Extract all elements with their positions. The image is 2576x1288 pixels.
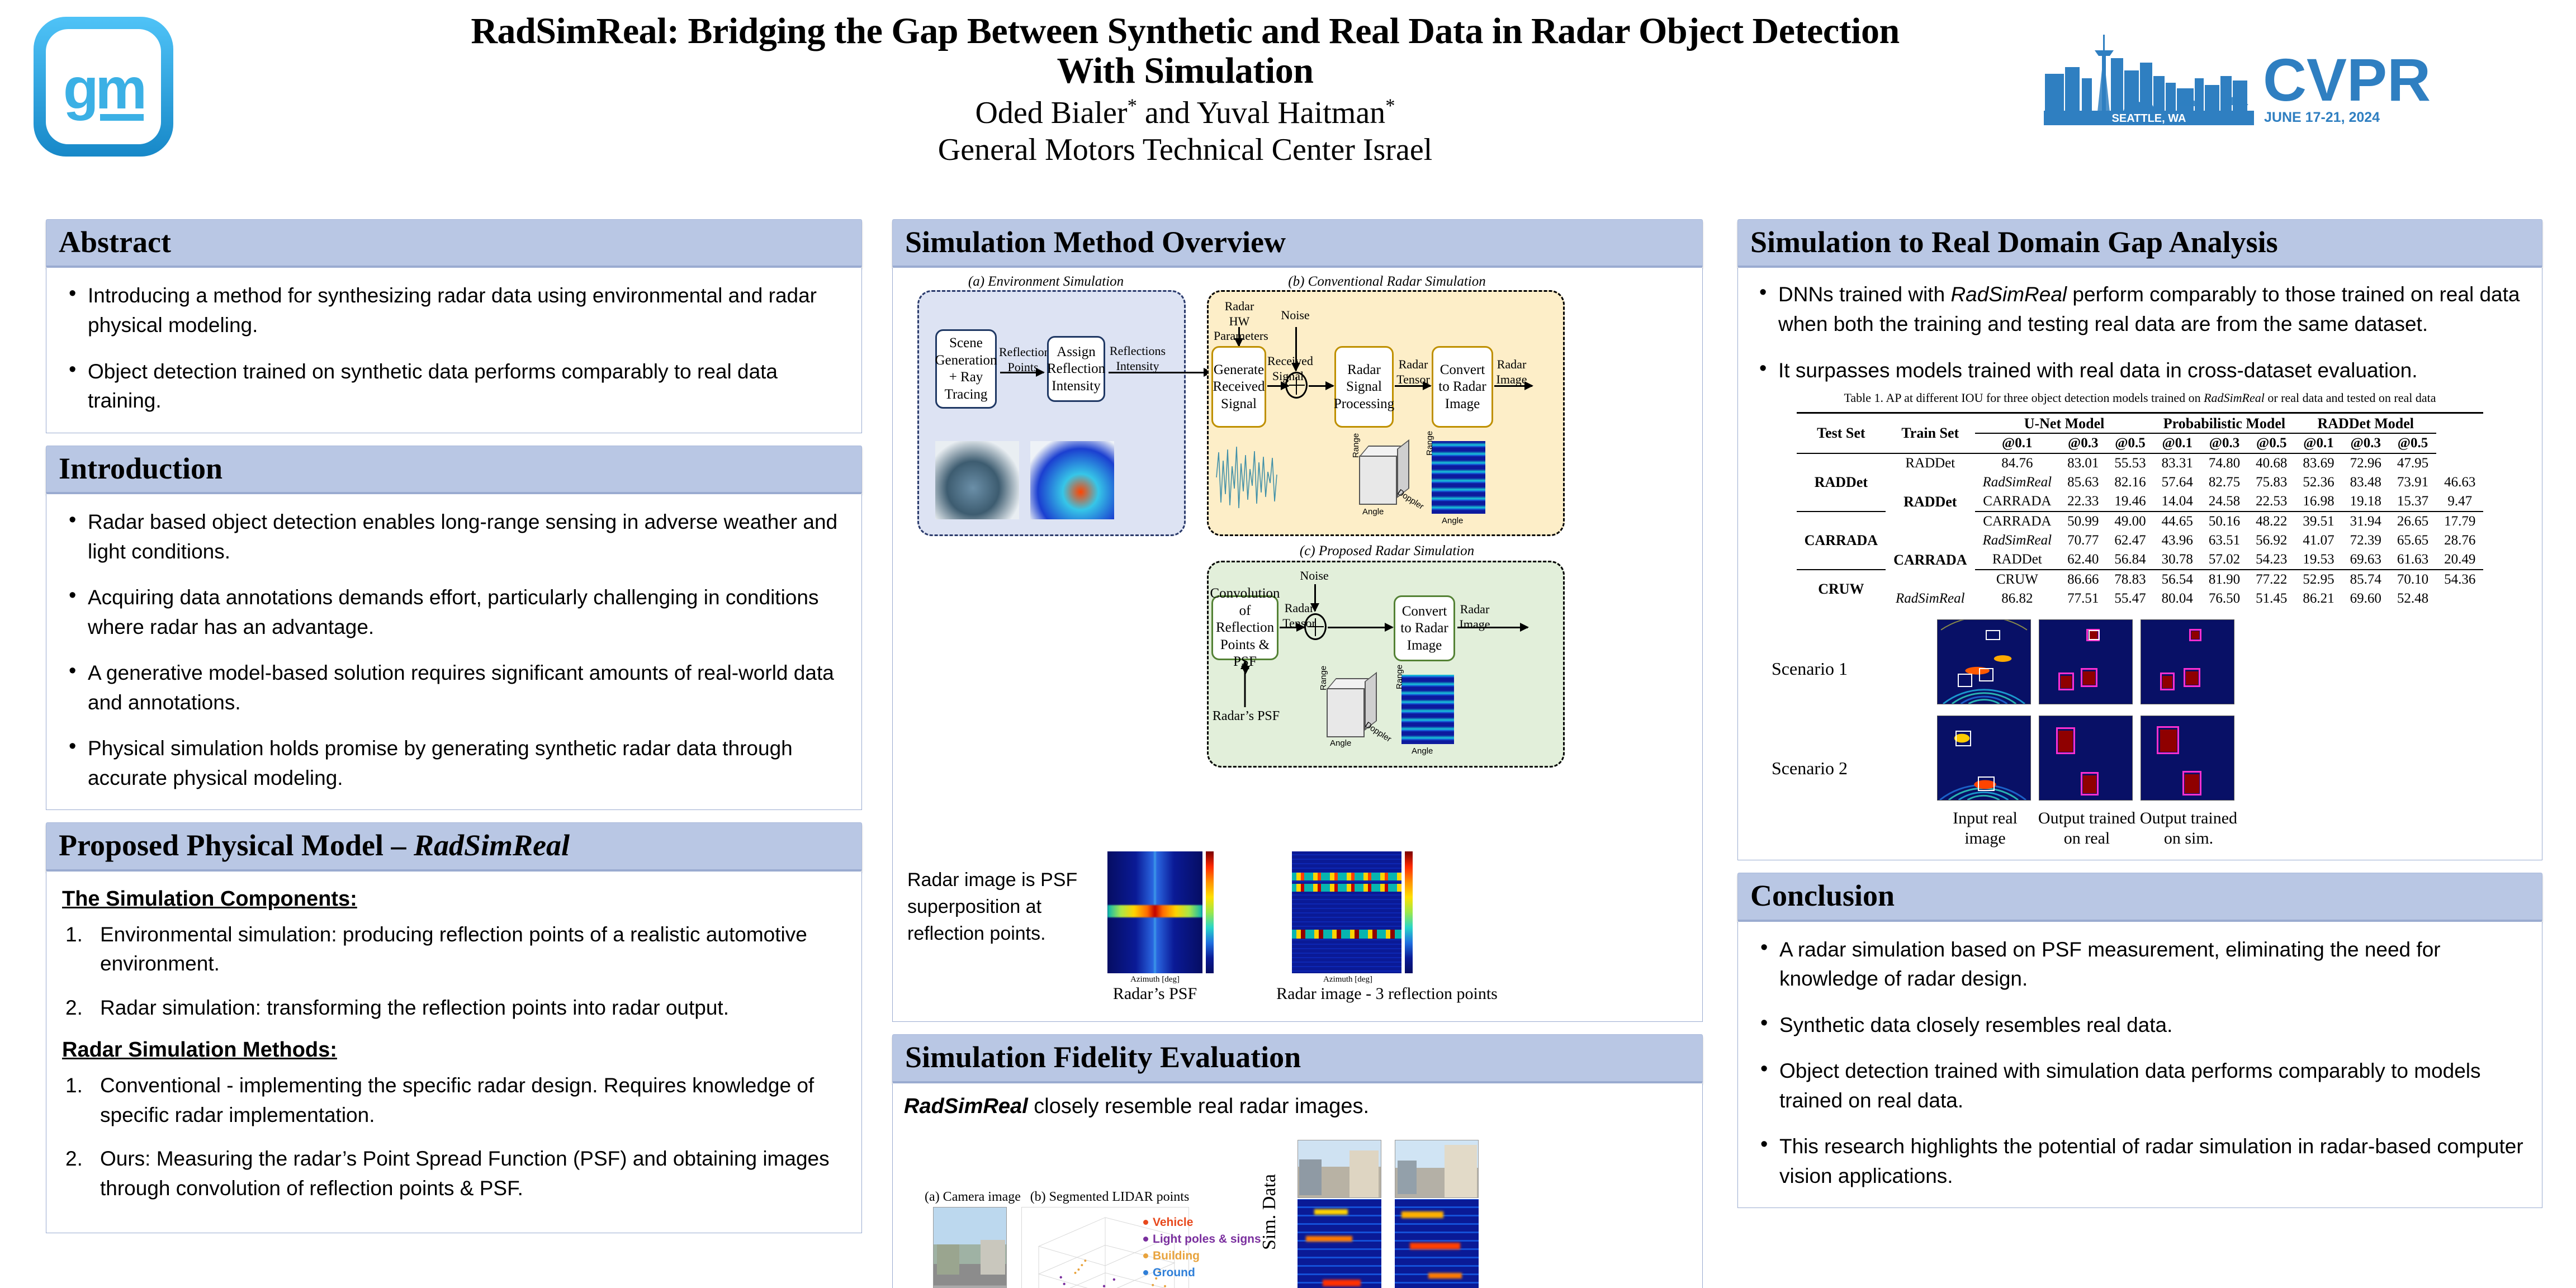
gt-bbox	[2089, 630, 2100, 640]
edge-label-noise-c: Noise	[1295, 569, 1333, 583]
conclusion-bullet-list: A radar simulation based on PSF measurem…	[1754, 935, 2526, 1191]
list-item: Radar based object detection enables lon…	[62, 508, 846, 566]
test-set-cell: CARRADA	[1797, 512, 1886, 570]
sim-camera-image-1	[1298, 1140, 1381, 1198]
ap-value-cell: 17.79	[2436, 512, 2483, 531]
ap-value-cell: 62.47	[2106, 531, 2153, 550]
panel-introduction-body: Radar based object detection enables lon…	[46, 494, 862, 810]
ap-value-cell: 83.69	[2295, 453, 2342, 473]
ap-value-cell: 49.00	[2106, 512, 2153, 531]
sim-camera-image-2	[1395, 1140, 1479, 1198]
radar-image-heatmap-b	[1432, 441, 1485, 514]
psf-colorbar	[1206, 851, 1214, 973]
iou-header: @0.1	[1975, 433, 2060, 453]
ap-value-cell: 51.45	[2248, 589, 2295, 608]
iou-header: @0.1	[2154, 433, 2201, 453]
gt-bbox	[1978, 776, 1995, 791]
panel-introduction: Introduction Radar based object detectio…	[46, 446, 862, 811]
train-set-cell: CRUW	[1975, 570, 2060, 589]
arrow-convert-out-b	[1494, 385, 1532, 387]
list-item-text: Radar simulation: transforming the refle…	[100, 996, 729, 1019]
ap-value-cell: 52.48	[2389, 589, 2436, 608]
ap-value-cell: 86.82	[1975, 589, 2060, 608]
ap-value-cell: 86.21	[2295, 589, 2342, 608]
ap-value-cell: 83.31	[2154, 453, 2201, 473]
ap-value-cell: 77.22	[2248, 570, 2295, 589]
panel-method-overview-title: Simulation Method Overview	[905, 225, 1690, 259]
edge-label-noise-b: Noise	[1276, 308, 1314, 323]
panel-proposed-model-header: Proposed Physical Model – RadSimReal	[46, 822, 862, 871]
ap-value-cell: 31.94	[2342, 512, 2389, 531]
left-column: Abstract Introducing a method for synthe…	[46, 219, 862, 1246]
cvpr-city-text: SEATTLE, WA	[2112, 112, 2186, 125]
pred-bbox	[2081, 668, 2097, 687]
list-item: A generative model-based solution requir…	[62, 659, 846, 717]
ap-value-cell: 54.23	[2248, 550, 2295, 570]
ap-value-cell: 50.16	[2201, 512, 2248, 531]
legend-label: Ground	[1153, 1266, 1195, 1280]
scenario1-input-real-image	[1937, 619, 2031, 704]
diagram-panel-b-title: (b) Conventional Radar Simulation	[1214, 273, 1560, 290]
iou-header: @0.5	[2248, 433, 2295, 453]
cube-axis-angle-c: Angle	[1330, 738, 1351, 748]
gm-logo: gm	[34, 17, 173, 157]
panel-fidelity-title: Simulation Fidelity Evaluation	[905, 1040, 1690, 1074]
legend-label: Building	[1153, 1249, 1200, 1263]
list-item: 2.Radar simulation: transforming the ref…	[62, 993, 846, 1023]
author-2-asterisk: *	[1385, 94, 1395, 116]
ap-value-cell: 73.91	[2389, 473, 2436, 492]
heatmap-axis-range-c: Range	[1395, 665, 1404, 689]
proposed-title-prefix: Proposed Physical Model –	[59, 828, 414, 862]
ap-value-cell: 26.65	[2389, 512, 2436, 531]
ap-value-cell: 57.02	[2201, 550, 2248, 570]
legend-label: Light poles & signs	[1153, 1233, 1261, 1246]
subhead-simulation-components: The Simulation Components:	[62, 887, 846, 911]
fidelity-lead-rest: closely resemble real radar images.	[1028, 1095, 1369, 1118]
scenario1-output-trained-sim	[2141, 619, 2234, 704]
list-item: 1.Environmental simulation: producing re…	[62, 920, 846, 979]
panel-proposed-model-body: The Simulation Components: 1.Environment…	[46, 872, 862, 1233]
ap-value-cell: 63.51	[2201, 531, 2248, 550]
arrow-sum-to-rsp	[1309, 385, 1333, 387]
node-radar-signal-processing: Radar Signal Processing	[1334, 346, 1394, 428]
camera-image-a	[933, 1207, 1007, 1288]
ap-results-table: Test Set Train Set U-Net Model Probabili…	[1797, 412, 2484, 608]
ap-value-cell: 22.53	[2248, 492, 2295, 512]
scenario2-output-trained-real	[2039, 716, 2133, 801]
heatmap-axis-angle-c: Angle	[1412, 746, 1433, 756]
panel-introduction-header: Introduction	[46, 446, 862, 494]
list-item-number: 1.	[65, 1071, 97, 1101]
radar-image-3pts-x-axis-label: Azimuth [deg]	[1303, 974, 1393, 984]
panel-abstract-title: Abstract	[59, 225, 849, 259]
panel-introduction-title: Introduction	[59, 452, 849, 485]
gt-bbox	[1979, 668, 1993, 681]
affiliation: General Motors Technical Center Israel	[347, 131, 2024, 168]
ap-value-cell: 47.95	[2389, 453, 2436, 473]
ap-value-cell: 28.76	[2436, 531, 2483, 550]
cvpr-logo: SEATTLE, WA CVPR JUNE 17-21, 2024	[2039, 22, 2542, 129]
list-item: DNNs trained with RadSimReal perform com…	[1753, 280, 2527, 339]
table-row: RADDetRADDet84.7683.0155.5383.3174.8040.…	[1797, 453, 2484, 473]
iou-header: @0.3	[2059, 433, 2106, 453]
list-item-number: 2.	[65, 993, 97, 1023]
panel-abstract: Abstract Introducing a method for synthe…	[46, 219, 862, 433]
list-item: Acquiring data annotations demands effor…	[62, 583, 846, 642]
ap-value-cell: 85.63	[2059, 473, 2106, 492]
ap-value-cell: 14.04	[2154, 492, 2201, 512]
scenario-label-1: Scenario 1	[1772, 659, 1848, 679]
panel-method-overview: Simulation Method Overview (a) Environme…	[892, 219, 1703, 1022]
poster-root: gm RadSimReal: Bridging the Gap Between …	[0, 0, 2576, 1288]
psf-superposition-note: Radar image is PSF superposition at refl…	[907, 867, 1092, 947]
ap-value-cell: 9.47	[2436, 492, 2483, 512]
fidelity-caption-a: (a) Camera image	[914, 1189, 1031, 1205]
table-body: RADDetRADDet84.7683.0155.5383.3174.8040.…	[1797, 453, 2484, 608]
panel-conclusion-title: Conclusion	[1750, 879, 2530, 912]
panel-domain-gap: Simulation to Real Domain Gap Analysis D…	[1737, 219, 2542, 860]
panel-domain-gap-header: Simulation to Real Domain Gap Analysis	[1737, 219, 2542, 268]
table-caption: Table 1. AP at different IOU for three o…	[1753, 391, 2527, 405]
ap-value-cell: 86.66	[2059, 570, 2106, 589]
radar-image-3pts-caption: Radar image - 3 reflection points	[1270, 984, 1504, 1003]
gt-bbox	[1986, 630, 2000, 640]
list-item: Object detection trained with simulation…	[1754, 1057, 2526, 1115]
cvpr-dates-text: JUNE 17-21, 2024	[2264, 110, 2380, 125]
panel-proposed-model: Proposed Physical Model – RadSimReal The…	[46, 822, 862, 1233]
cube-axis-angle-b: Angle	[1362, 507, 1384, 517]
list-item: Object detection trained on synthetic da…	[62, 357, 846, 416]
panel-proposed-model-title: Proposed Physical Model – RadSimReal	[59, 828, 849, 862]
test-set-cell: CARRADA	[1886, 531, 1974, 589]
title-block: RadSimReal: Bridging the Gap Between Syn…	[347, 11, 2024, 168]
ap-value-cell: 52.95	[2295, 570, 2342, 589]
ap-value-cell: 70.10	[2389, 570, 2436, 589]
ap-value-cell: 55.47	[2106, 589, 2153, 608]
node-scene-generation: Scene Generation + Ray Tracing	[935, 329, 997, 409]
panel-method-overview-header: Simulation Method Overview	[892, 219, 1703, 268]
ap-value-cell: 69.60	[2342, 589, 2389, 608]
legend-dot-icon	[1143, 1237, 1148, 1242]
ap-value-cell: 20.49	[2436, 550, 2483, 570]
gm-wordmark: gm	[63, 60, 144, 118]
scenario-column-caption-sim: Output trained on sim.	[2138, 808, 2239, 849]
preview-raytracing-pointcloud	[935, 441, 1019, 519]
subhead-radar-simulation-methods: Radar Simulation Methods:	[62, 1038, 846, 1062]
psf-comparison-figure: Radar image is PSF superposition at refl…	[901, 847, 1694, 1015]
scenario2-output-trained-sim	[2141, 716, 2234, 801]
legend-dot-icon	[1143, 1220, 1148, 1225]
cvpr-wordmark-text: CVPR	[2263, 46, 2431, 113]
test-set-cell: CRUW	[1797, 570, 1886, 608]
list-item-text: Conventional - implementing the specific…	[100, 1074, 814, 1126]
fidelity-caption-b: (b) Segmented LIDAR points	[1020, 1189, 1199, 1205]
list-item: 1.Conventional - implementing the specif…	[62, 1071, 846, 1130]
abstract-bullet-list: Introducing a method for synthesizing ra…	[62, 281, 846, 415]
right-column: Simulation to Real Domain Gap Analysis D…	[1737, 219, 2542, 1220]
arrow-hw-into-generate	[1238, 327, 1240, 346]
ap-value-cell: 72.39	[2342, 531, 2389, 550]
group-header-probabilistic: Probabilistic Model	[2154, 413, 2295, 434]
fidelity-figure: (a) Camera image (b) Segmented LIDAR poi…	[903, 1129, 1692, 1288]
arrow-rsp-to-convert	[1395, 385, 1431, 387]
train-set-cell: RadSimReal	[1975, 531, 2060, 550]
pred-bbox	[2157, 726, 2179, 754]
ap-value-cell: 44.65	[2154, 512, 2201, 531]
node-convert-to-radar-image-c: Convert to Radar Image	[1394, 595, 1455, 661]
edge-label-reflections-intensity: Reflections Intensity	[1109, 344, 1167, 373]
heatmap-axis-angle-b: Angle	[1442, 516, 1463, 525]
ap-value-cell: 83.48	[2342, 473, 2389, 492]
ap-value-cell: 40.68	[2248, 453, 2295, 473]
iou-header: @0.1	[2295, 433, 2342, 453]
radar-image-heatmap-c	[1401, 675, 1454, 744]
fidelity-lead-em: RadSimReal	[904, 1095, 1028, 1118]
panel-domain-gap-body: DNNs trained with RadSimReal perform com…	[1737, 268, 2542, 860]
panel-conclusion: Conclusion A radar simulation based on P…	[1737, 873, 2542, 1208]
arrow-sum-to-convert-c	[1328, 627, 1393, 628]
ap-value-cell: 54.36	[2436, 570, 2483, 589]
received-signal-waveform	[1214, 441, 1281, 514]
node-assign-reflection-intensity: Assign Reflection Intensity	[1047, 336, 1105, 402]
sim-radar-heatmap-1	[1298, 1199, 1381, 1288]
panel-method-overview-body: (a) Environment Simulation Scene Generat…	[892, 268, 1703, 1022]
cube-axis-range-c: Range	[1319, 666, 1328, 690]
ap-value-cell: 83.01	[2059, 453, 2106, 473]
ap-value-cell: 19.53	[2295, 550, 2342, 570]
cvpr-logo-svg: SEATTLE, WA CVPR JUNE 17-21, 2024	[2039, 22, 2542, 129]
ap-value-cell: 74.80	[2201, 453, 2248, 473]
table-row: RadSimReal86.8277.5155.4780.0476.5051.45…	[1797, 589, 2484, 608]
arrow-convert-out-c	[1457, 627, 1528, 628]
method-overview-diagram: (a) Environment Simulation Scene Generat…	[901, 273, 1694, 844]
train-set-cell: CARRADA	[1975, 492, 2060, 512]
panel-fidelity-body: RadSimReal closely resemble real radar i…	[892, 1083, 1703, 1288]
list-item: A radar simulation based on PSF measurem…	[1754, 935, 2526, 994]
ap-value-cell: 52.36	[2295, 473, 2342, 492]
train-set-cell: RadSimReal	[1975, 473, 2060, 492]
pred-bbox	[2056, 727, 2075, 754]
ap-value-cell: 15.37	[2389, 492, 2436, 512]
list-item-text: Environmental simulation: producing refl…	[100, 923, 807, 976]
panel-conclusion-body: A radar simulation based on PSF measurem…	[1737, 922, 2542, 1209]
gt-bbox	[1955, 731, 1971, 746]
diagram-panel-a-title: (a) Environment Simulation	[923, 273, 1169, 290]
poster-title-line-2: With Simulation	[347, 51, 2024, 91]
list-item-number: 2.	[65, 1144, 97, 1174]
pred-bbox	[2189, 629, 2201, 641]
train-set-cell: RadSimReal	[1886, 589, 1974, 608]
list-item: Physical simulation holds promise by gen…	[62, 734, 846, 793]
ap-value-cell: 82.16	[2106, 473, 2153, 492]
scenario-label-2: Scenario 2	[1772, 758, 1848, 779]
psf-heatmap-image	[1107, 851, 1202, 973]
author-1: Oded Bialer	[975, 96, 1127, 130]
preview-reflection-intensity-pointcloud	[1030, 441, 1114, 519]
group-header-raddet: RADDet Model	[2295, 413, 2436, 434]
iou-header: @0.5	[2389, 433, 2436, 453]
author-2: and Yuval Haitman	[1137, 96, 1385, 130]
edge-label-radars-psf: Radar’s PSF	[1211, 708, 1281, 724]
arrow-conv-to-sum-c	[1280, 627, 1304, 628]
ap-value-cell: 50.99	[2059, 512, 2106, 531]
ap-value-cell: 46.63	[2436, 473, 2483, 492]
ap-value-cell: 65.65	[2389, 531, 2436, 550]
panel-fidelity-header: Simulation Fidelity Evaluation	[892, 1034, 1703, 1083]
table-head: Test Set Train Set U-Net Model Probabili…	[1797, 413, 2484, 454]
panel-domain-gap-title: Simulation to Real Domain Gap Analysis	[1750, 225, 2530, 259]
list-item: 2.Ours: Measuring the radar’s Point Spre…	[62, 1144, 846, 1203]
col-header-test-set: Test Set	[1797, 413, 1886, 454]
table-row: RADDetRadSimReal85.6382.1657.6482.7575.8…	[1797, 473, 2484, 492]
arrow-scene-to-assign	[1000, 372, 1044, 373]
test-set-cell: RADDet	[1797, 453, 1886, 512]
ap-value-cell: 56.92	[2248, 531, 2295, 550]
group-header-unet: U-Net Model	[1975, 413, 2154, 434]
ap-value-cell: 30.78	[2154, 550, 2201, 570]
legend-dot-icon	[1143, 1253, 1148, 1258]
ap-value-cell: 70.77	[2059, 531, 2106, 550]
arrow-assign-to-generate	[1109, 372, 1211, 373]
panel-abstract-body: Introducing a method for synthesizing ra…	[46, 268, 862, 433]
ap-value-cell: 85.74	[2342, 570, 2389, 589]
poster-header: gm RadSimReal: Bridging the Gap Between …	[0, 0, 2576, 212]
radar-image-3pts-heatmap	[1292, 851, 1401, 973]
ap-value-cell: 82.75	[2201, 473, 2248, 492]
pred-bbox	[2160, 673, 2175, 690]
arrow-psf-into-convolution	[1236, 660, 1258, 707]
author-list: Oded Bialer* and Yuval Haitman*	[347, 94, 2024, 131]
ap-value-cell: 56.84	[2106, 550, 2153, 570]
simulation-components-list: 1.Environmental simulation: producing re…	[62, 920, 846, 1023]
pred-bbox	[2182, 771, 2201, 795]
ap-value-cell: 78.83	[2106, 570, 2153, 589]
edge-label-radar-image-b: Radar Image	[1494, 357, 1529, 387]
ap-value-cell: 76.50	[2201, 589, 2248, 608]
table-row: Test Set Train Set U-Net Model Probabili…	[1797, 413, 2484, 434]
table-row: CARRADARadSimReal70.7762.4743.9663.5156.…	[1797, 531, 2484, 550]
pred-bbox	[2184, 668, 2200, 687]
ap-value-cell: 75.83	[2248, 473, 2295, 492]
ap-value-cell: 61.63	[2389, 550, 2436, 570]
train-set-cell: RADDet	[1975, 550, 2060, 570]
ap-value-cell: 43.96	[2154, 531, 2201, 550]
sim-radar-heatmap-2	[1395, 1199, 1479, 1288]
ap-value-cell: 62.40	[2059, 550, 2106, 570]
psf-x-axis-label: Azimuth [deg]	[1113, 974, 1197, 984]
ap-value-cell: 84.76	[1975, 453, 2060, 473]
radar-image-3pts-colorbar	[1405, 851, 1413, 973]
list-item: This research highlights the potential o…	[1754, 1132, 2526, 1191]
node-convolution-reflection-psf: Convolution of Reflection Points & PSF	[1211, 595, 1278, 660]
ap-value-cell: 24.58	[2201, 492, 2248, 512]
node-generate-received-signal: Generate Received Signal	[1211, 346, 1266, 428]
ap-value-cell: 48.22	[2248, 512, 2295, 531]
ap-value-cell: 77.51	[2059, 589, 2106, 608]
row-label-sim-data: Sim. Data	[1259, 1156, 1280, 1268]
legend-label: Vehicle	[1153, 1216, 1193, 1229]
poster-title-line-1: RadSimReal: Bridging the Gap Between Syn…	[347, 11, 2024, 51]
ap-value-cell: 55.53	[2106, 453, 2153, 473]
pred-bbox	[2058, 673, 2074, 690]
pred-bbox	[2081, 772, 2099, 795]
ap-value-cell: 19.18	[2342, 492, 2389, 512]
test-set-cell: RADDet	[1886, 473, 1974, 531]
fidelity-lead-text: RadSimReal closely resemble real radar i…	[904, 1095, 1692, 1119]
ap-value-cell: 81.90	[2201, 570, 2248, 589]
domain-gap-bullet-list: DNNs trained with RadSimReal perform com…	[1753, 280, 2527, 385]
introduction-bullet-list: Radar based object detection enables lon…	[62, 508, 846, 793]
legend-dot-icon	[1143, 1270, 1148, 1275]
psf-figure-caption: Radar’s PSF	[1085, 984, 1225, 1003]
list-item-text: Ours: Measuring the radar’s Point Spread…	[100, 1147, 830, 1200]
scenario-column-caption-input: Input real image	[1940, 808, 2030, 849]
scenario1-output-trained-real	[2039, 619, 2133, 704]
ap-value-cell: 39.51	[2295, 512, 2342, 531]
panel-abstract-header: Abstract	[46, 219, 862, 268]
panel-fidelity: Simulation Fidelity Evaluation RadSimRea…	[892, 1034, 1703, 1288]
ap-value-cell: 41.07	[2295, 531, 2342, 550]
ap-value-cell: 69.63	[2342, 550, 2389, 570]
panel-conclusion-header: Conclusion	[1737, 873, 2542, 921]
scenario-results-figure: Scenario 1 Scenario 2	[1753, 612, 2527, 852]
middle-column: Simulation Method Overview (a) Environme…	[892, 219, 1703, 1288]
train-set-cell: CARRADA	[1975, 512, 2060, 531]
scenario-column-caption-real: Output trained on real	[2038, 808, 2136, 849]
node-convert-to-radar-image-b: Convert to Radar Image	[1432, 346, 1493, 428]
list-item: Synthetic data closely resembles real da…	[1754, 1011, 2526, 1040]
ap-value-cell: 57.64	[2154, 473, 2201, 492]
list-item: It surpasses models trained with real da…	[1753, 356, 2527, 386]
ap-value-cell: 16.98	[2295, 492, 2342, 512]
proposed-title-em: RadSimReal	[414, 828, 570, 862]
list-item: Introducing a method for synthesizing ra…	[62, 281, 846, 340]
diagram-panel-c-title: (c) Proposed Radar Simulation	[1214, 543, 1560, 560]
cube-axis-range-b: Range	[1351, 433, 1361, 458]
col-header-train-set: Train Set	[1886, 413, 1974, 454]
iou-header: @0.3	[2342, 433, 2389, 453]
radar-simulation-methods-list: 1.Conventional - implementing the specif…	[62, 1071, 846, 1203]
scenario2-input-real-image	[1937, 716, 2031, 801]
ap-value-cell: 19.46	[2106, 492, 2153, 512]
iou-header: @0.3	[2201, 433, 2248, 453]
ap-value-cell: 80.04	[2154, 589, 2201, 608]
ap-value-cell: 72.96	[2342, 453, 2389, 473]
iou-header: @0.5	[2106, 433, 2153, 453]
heatmap-axis-range-b: Range	[1425, 431, 1434, 456]
list-item-number: 1.	[65, 920, 97, 950]
gm-logo-inner-plate: gm	[46, 29, 161, 144]
author-1-asterisk: *	[1128, 94, 1137, 116]
ap-value-cell: 56.54	[2154, 570, 2201, 589]
gt-bbox	[1958, 674, 1972, 687]
ap-value-cell: 22.33	[2059, 492, 2106, 512]
train-set-cell: RADDet	[1886, 453, 1974, 473]
lidar-legend: Vehicle Light poles & signs Building Gro…	[1143, 1216, 1261, 1280]
